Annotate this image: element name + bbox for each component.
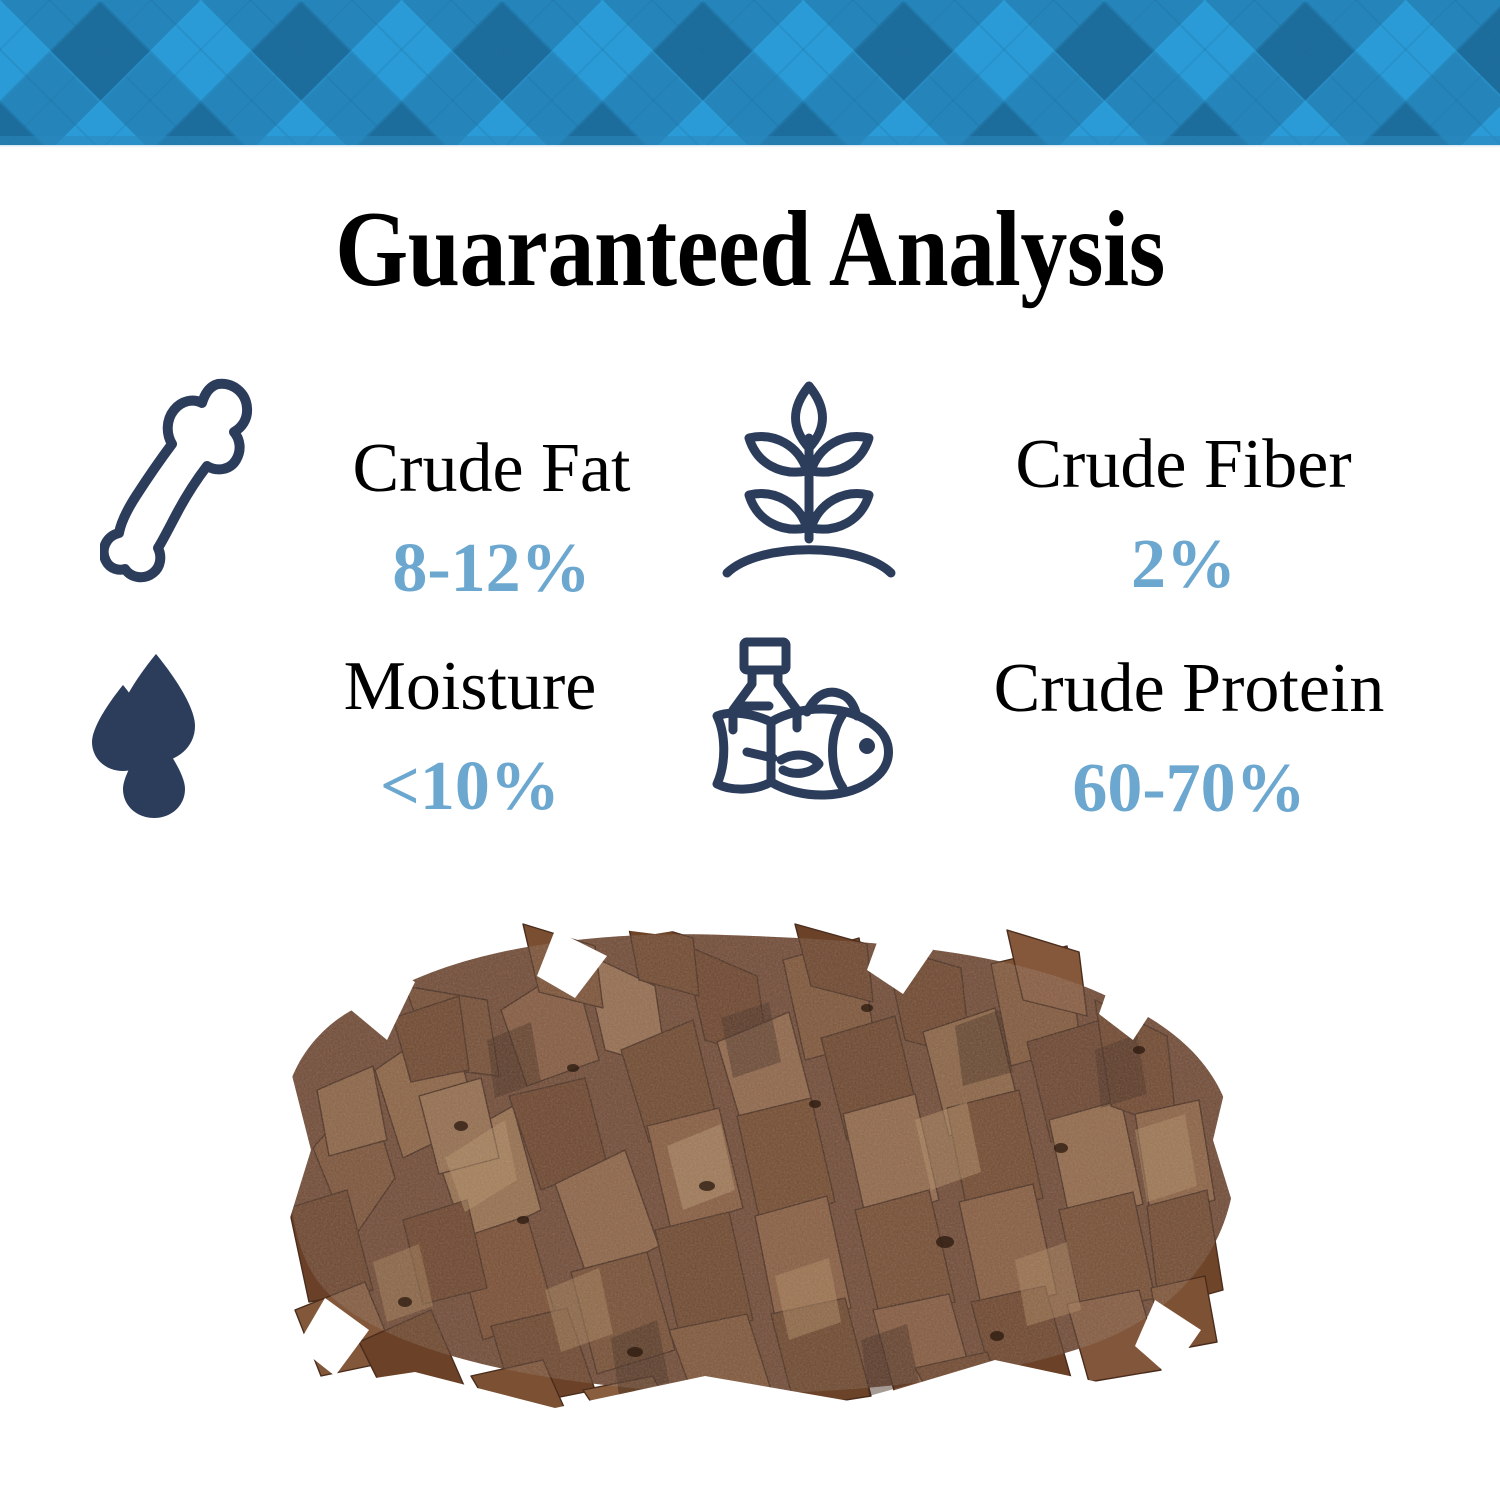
bone-icon — [100, 368, 260, 588]
fish-oil-bottle-icon — [711, 634, 916, 829]
stat-crude-protein: Crude Protein 60-70% — [693, 624, 1438, 856]
page-title: Guaranteed Analysis — [98, 196, 1403, 304]
guaranteed-analysis-stats-grid: Crude Fat 8-12% — [78, 362, 1438, 856]
wheat-plant-icon — [719, 376, 899, 586]
gingham-pattern-svg — [0, 0, 1500, 145]
stat-moisture-text: Moisture <10% — [217, 624, 693, 822]
guaranteed-analysis-infographic: Guaranteed Analysis Crude Fat 8-12% — [0, 0, 1500, 1500]
stat-crude-fiber-text: Crude Fiber 2% — [899, 362, 1438, 600]
stat-crude-fat: Crude Fat 8-12% — [78, 362, 693, 624]
stat-crude-fat-text: Crude Fat 8-12% — [260, 362, 693, 604]
stat-moisture-label: Moisture — [344, 652, 597, 722]
stat-crude-fat-label: Crude Fat — [352, 434, 630, 504]
header-gingham-band — [0, 0, 1500, 145]
stat-crude-fiber: Crude Fiber 2% — [693, 362, 1438, 624]
stat-crude-protein-label: Crude Protein — [994, 654, 1385, 724]
stat-crude-fat-value: 8-12% — [392, 534, 590, 604]
header-divider-rule — [0, 145, 1500, 148]
stat-crude-protein-text: Crude Protein 60-70% — [916, 624, 1438, 824]
dried-meat-chips-pile-image — [255, 890, 1265, 1420]
stat-crude-fiber-label: Crude Fiber — [1015, 430, 1351, 500]
stat-crude-fiber-value: 2% — [1131, 530, 1236, 600]
stat-crude-protein-value: 60-70% — [1072, 754, 1305, 824]
stat-moisture: Moisture <10% — [78, 624, 693, 856]
water-droplets-icon — [92, 650, 217, 830]
stat-moisture-value: <10% — [380, 752, 560, 822]
